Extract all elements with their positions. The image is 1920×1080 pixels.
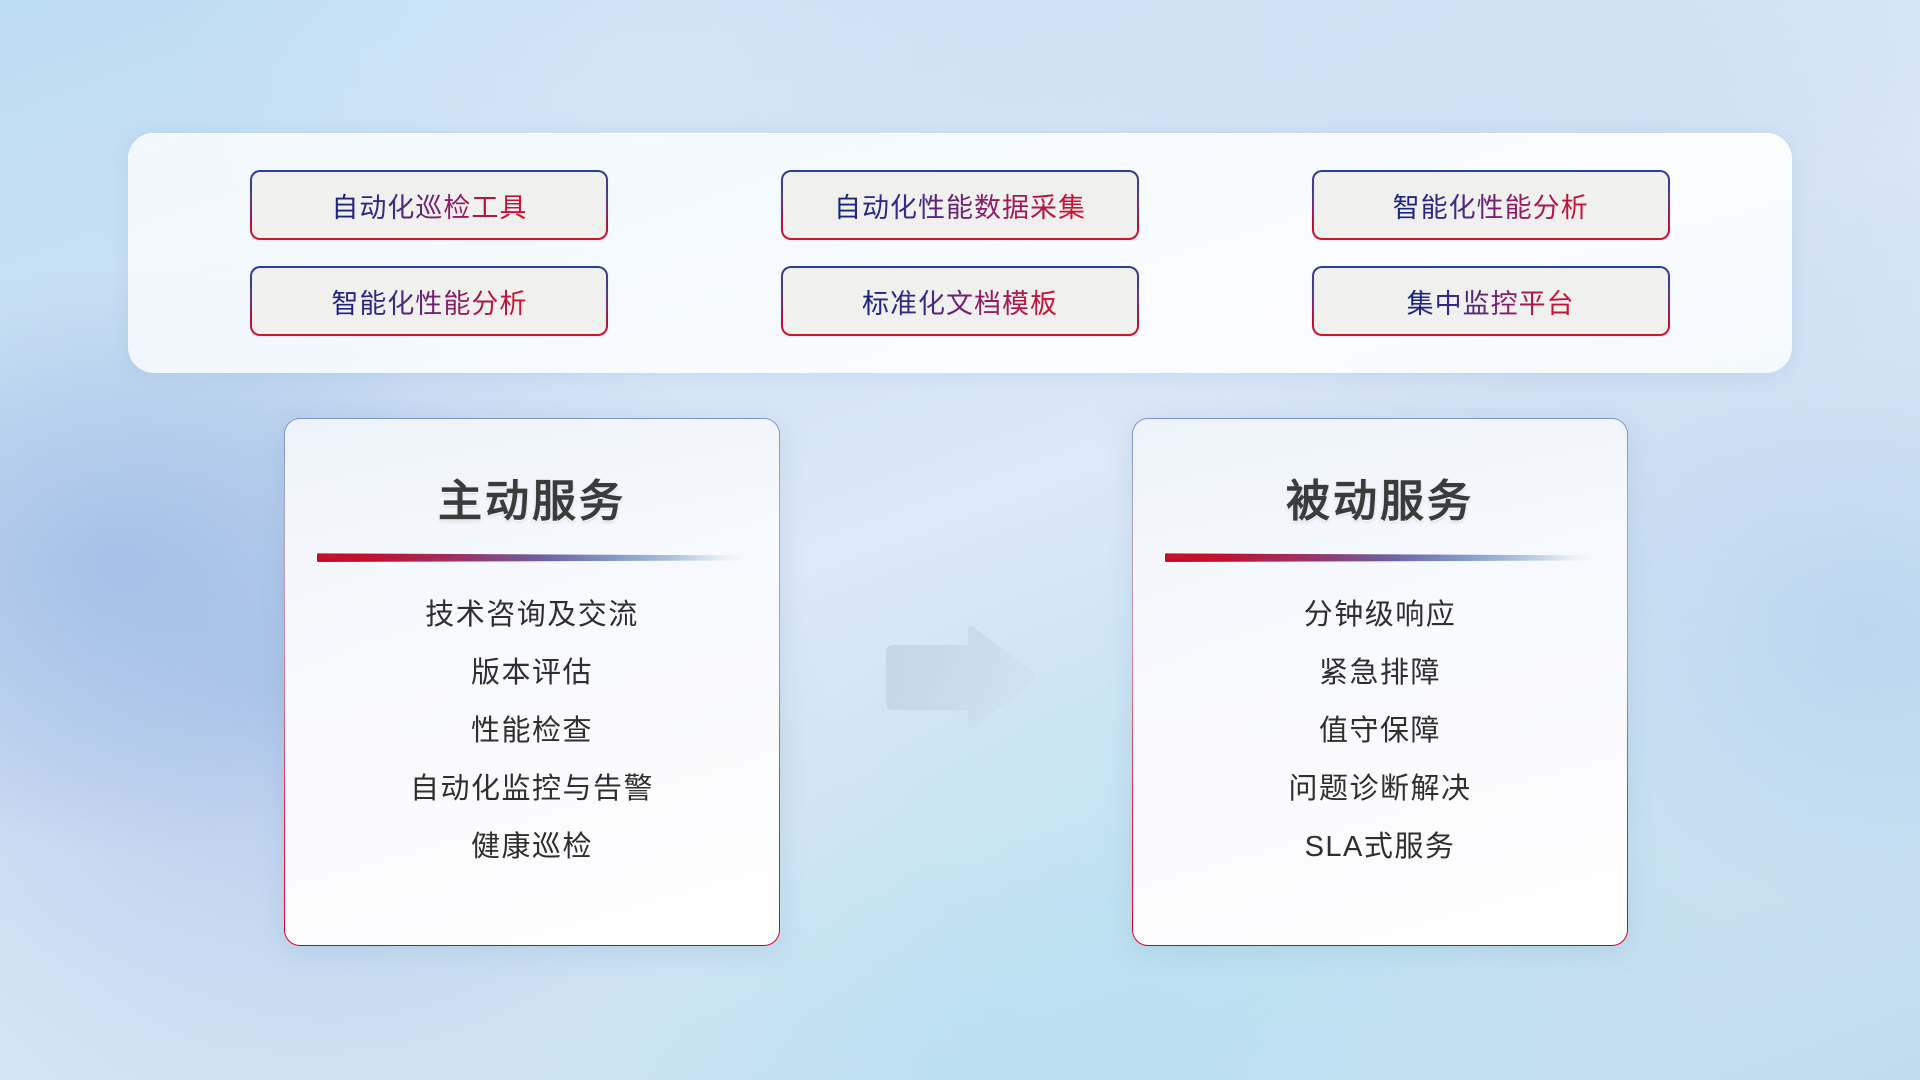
capability-pill-5[interactable]: 标准化文档模板: [781, 266, 1139, 336]
list-item: 自动化监控与告警: [410, 774, 654, 806]
capability-pill-1[interactable]: 自动化巡检工具: [250, 170, 608, 240]
capability-pill-label: 自动化巡检工具: [331, 186, 527, 225]
service-card-passive[interactable]: 被动服务 分钟级响应 紧急排障 值守保障 问题诊断解决 SLA式服务: [1132, 418, 1628, 946]
arrow-right-icon: [880, 622, 1040, 734]
service-list-passive: 分钟级响应 紧急排障 值守保障 问题诊断解决 SLA式服务: [1163, 600, 1597, 863]
list-item: 问题诊断解决: [1288, 774, 1471, 806]
capability-panel: 自动化巡检工具 自动化性能数据采集 智能化性能分析 智能化性能分析 标准化文档模…: [128, 133, 1792, 373]
card-divider: [1165, 553, 1595, 562]
capability-pill-4[interactable]: 智能化性能分析: [250, 266, 608, 336]
capability-pill-label: 智能化性能分析: [331, 282, 527, 321]
slide-canvas: 自动化巡检工具 自动化性能数据采集 智能化性能分析 智能化性能分析 标准化文档模…: [0, 0, 1920, 1080]
capability-pill-2[interactable]: 自动化性能数据采集: [781, 170, 1139, 240]
list-item: SLA式服务: [1305, 832, 1456, 864]
card-title-active: 主动服务: [438, 465, 626, 529]
list-item: 分钟级响应: [1304, 600, 1457, 632]
capability-pill-label: 标准化文档模板: [862, 282, 1058, 321]
card-divider: [317, 553, 747, 562]
list-item: 紧急排障: [1319, 658, 1441, 690]
list-item: 健康巡检: [471, 832, 593, 864]
list-item: 技术咨询及交流: [425, 600, 639, 632]
service-list-active: 技术咨询及交流 版本评估 性能检查 自动化监控与告警 健康巡检: [315, 600, 749, 863]
list-item: 版本评估: [471, 658, 593, 690]
capability-pill-label: 自动化性能数据采集: [834, 186, 1086, 225]
capability-pill-label: 集中监控平台: [1407, 282, 1575, 321]
service-card-active[interactable]: 主动服务 技术咨询及交流 版本评估 性能检查 自动化监控与告警 健康巡检: [284, 418, 780, 946]
capability-pill-3[interactable]: 智能化性能分析: [1312, 170, 1670, 240]
list-item: 性能检查: [471, 716, 593, 748]
list-item: 值守保障: [1319, 716, 1441, 748]
capability-pill-6[interactable]: 集中监控平台: [1312, 266, 1670, 336]
card-title-passive: 被动服务: [1286, 465, 1474, 529]
capability-pill-label: 智能化性能分析: [1393, 186, 1589, 225]
